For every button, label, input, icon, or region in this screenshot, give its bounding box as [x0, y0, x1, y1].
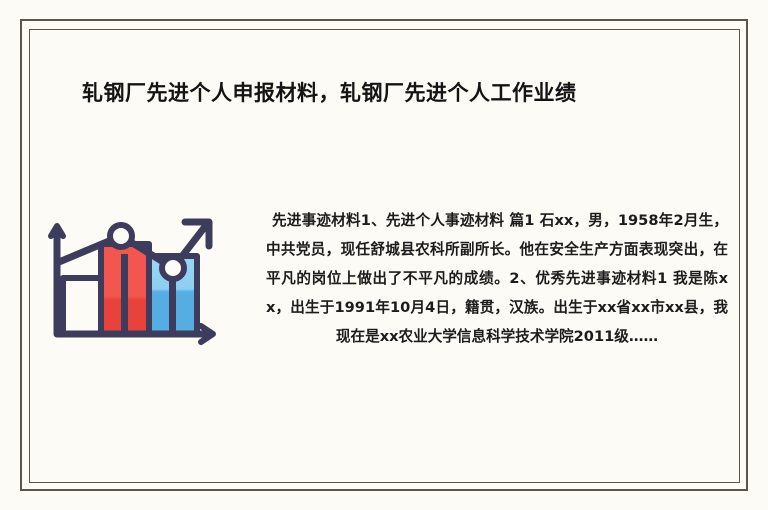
data-point-marker-1	[110, 225, 132, 247]
chart-bar-2	[101, 244, 149, 334]
article-body: 先进事迹材料1、先进个人事迹材料 篇1 石xx，男，1958年2月生，中共党员，…	[266, 206, 728, 351]
data-point-marker-2	[162, 257, 184, 279]
bar-chart-growth-illustration	[45, 208, 225, 348]
document-page: 轧钢厂先进个人申报材料，轧钢厂先进个人工作业绩	[0, 0, 768, 510]
page-title: 轧钢厂先进个人申报材料，轧钢厂先进个人工作业绩	[82, 78, 682, 108]
chart-bar-1	[63, 278, 101, 334]
